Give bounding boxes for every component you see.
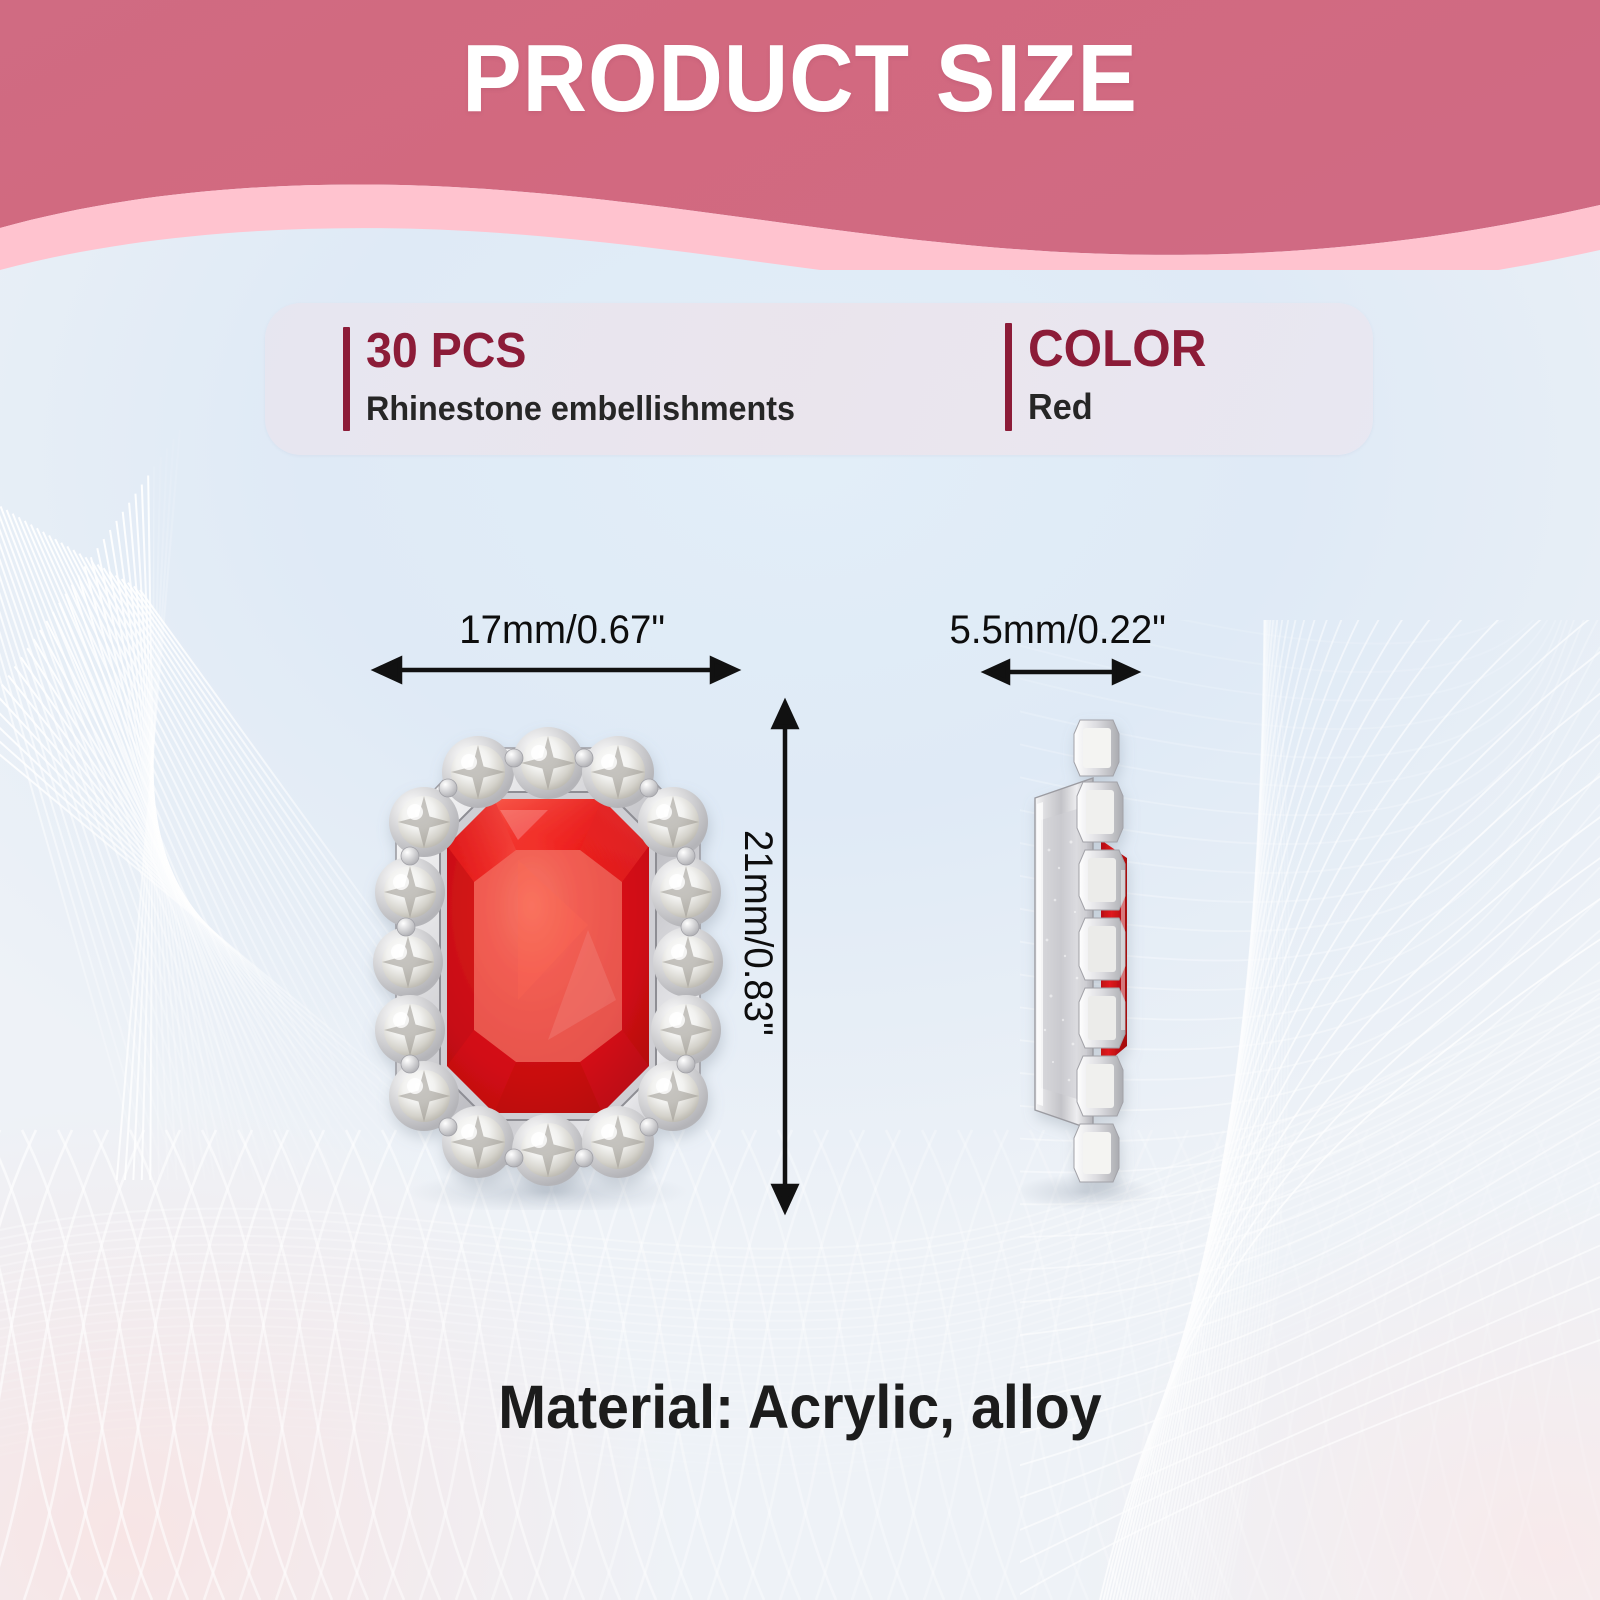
quantity-value: 30 PCS xyxy=(366,327,795,376)
side-prong-highlight xyxy=(1121,870,1125,1030)
rhinestone xyxy=(442,736,514,808)
rhinestone xyxy=(389,787,459,857)
width-dimension-label: 17mm/0.67" xyxy=(459,608,665,653)
quantity-block: 30 PCS Rhinestone embellishments xyxy=(343,327,818,431)
width-arrow-head-left xyxy=(376,659,400,681)
quantity-description: Rhinestone embellishments xyxy=(366,392,795,426)
height-arrow-head-top xyxy=(774,703,796,727)
rhinestone-front-view xyxy=(348,700,748,1210)
material-text: Material: Acrylic, alloy xyxy=(48,1372,1552,1442)
side-rhinestone xyxy=(1079,850,1125,910)
rhinestone xyxy=(582,736,654,808)
color-label: COLOR xyxy=(1028,323,1206,375)
side-rhinestone xyxy=(1079,918,1125,980)
side-rhinestone-column xyxy=(1074,720,1125,1182)
color-value: Red xyxy=(1028,389,1206,425)
rhinestone xyxy=(375,995,445,1065)
width-arrow-head-right xyxy=(712,659,736,681)
rhinestone-side-view xyxy=(985,700,1185,1210)
side-rhinestone xyxy=(1074,1124,1119,1182)
color-accent-bar xyxy=(1005,323,1012,431)
side-rhinestone xyxy=(1077,1056,1123,1116)
rhinestone xyxy=(373,927,443,997)
rhinestone xyxy=(651,857,721,927)
rhinestone xyxy=(512,1114,584,1186)
product-size-infographic: PRODUCT SIZE 30 PCS Rhinestone embellish… xyxy=(0,0,1600,1600)
side-rhinestone xyxy=(1074,720,1119,776)
rhinestone xyxy=(375,857,445,927)
rhinestone xyxy=(651,995,721,1065)
side-rhinestone xyxy=(1077,782,1123,842)
quantity-accent-bar xyxy=(343,327,350,431)
front-view-body xyxy=(373,727,723,1186)
page-title: PRODUCT SIZE xyxy=(56,25,1544,133)
height-arrow-head-bottom xyxy=(774,1186,796,1210)
product-info-bar: 30 PCS Rhinestone embellishments COLOR R… xyxy=(265,303,1373,455)
depth-arrow-head-right xyxy=(1114,662,1136,682)
side-edge-highlight xyxy=(1037,802,1043,1106)
rhinestone xyxy=(512,727,584,799)
depth-arrow-head-left xyxy=(986,662,1008,682)
stone-facet-left xyxy=(447,846,474,1066)
rhinestone xyxy=(653,927,723,997)
stone-facet-right xyxy=(622,846,649,1066)
depth-dimension-label: 5.5mm/0.22" xyxy=(950,608,1166,653)
header-banner: PRODUCT SIZE xyxy=(0,0,1600,270)
rhinestone xyxy=(582,1106,654,1178)
rhinestone xyxy=(442,1106,514,1178)
rhinestone xyxy=(638,787,708,857)
color-block: COLOR Red xyxy=(1005,323,1216,431)
side-view-body xyxy=(1035,720,1127,1182)
side-rhinestone xyxy=(1079,988,1125,1048)
